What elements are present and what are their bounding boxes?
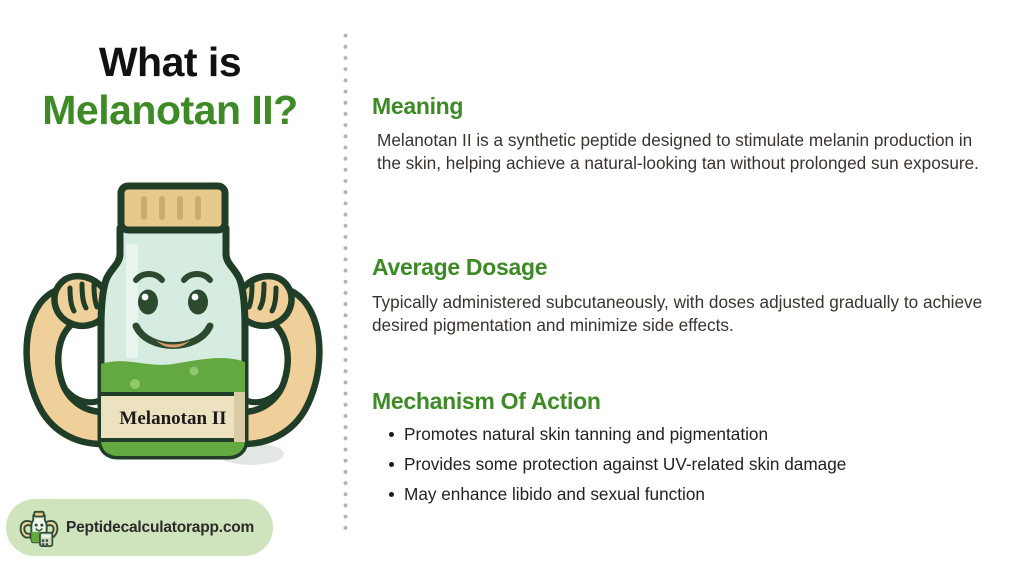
right-column: Meaning Melanotan II is a synthetic pept… bbox=[372, 0, 1012, 576]
mechanism-bullet-list: Promotes natural skin tanning and pigmen… bbox=[372, 423, 997, 505]
list-item: Provides some protection against UV-rela… bbox=[372, 453, 972, 476]
section-heading-mechanism-of-action: Mechanism Of Action bbox=[372, 389, 997, 414]
brand-name: Peptidecalculatorapp.com bbox=[66, 519, 254, 537]
list-item: Promotes natural skin tanning and pigmen… bbox=[372, 423, 972, 446]
section-mechanism-of-action: Mechanism Of Action Promotes natural ski… bbox=[372, 389, 997, 512]
bottle-mascot-illustration: Melanotan II bbox=[8, 168, 338, 478]
section-meaning: Meaning Melanotan II is a synthetic pept… bbox=[372, 94, 997, 175]
infographic-canvas: What is Melanotan II? bbox=[0, 0, 1024, 576]
vertical-dotted-divider bbox=[343, 30, 348, 530]
section-body-meaning: Melanotan II is a synthetic peptide desi… bbox=[377, 129, 987, 174]
peptide-bottle-calculator-logo-icon bbox=[18, 507, 60, 549]
bottle-body: Melanotan II bbox=[96, 186, 250, 468]
left-column: What is Melanotan II? bbox=[0, 0, 345, 576]
bottle-cap bbox=[121, 186, 225, 230]
section-heading-meaning: Meaning bbox=[372, 94, 997, 119]
title-line-2: Melanotan II? bbox=[0, 88, 340, 134]
bottle-label-text: Melanotan II bbox=[119, 408, 226, 429]
section-body-average-dosage: Typically administered subcutaneously, w… bbox=[372, 291, 990, 336]
page-title: What is Melanotan II? bbox=[0, 40, 340, 134]
brand-footer-badge[interactable]: Peptidecalculatorapp.com bbox=[6, 499, 273, 556]
section-average-dosage: Average Dosage Typically administered su… bbox=[372, 255, 997, 337]
section-heading-average-dosage: Average Dosage bbox=[372, 255, 997, 280]
title-line-1: What is bbox=[0, 40, 340, 84]
list-item: May enhance libido and sexual function bbox=[372, 483, 972, 506]
